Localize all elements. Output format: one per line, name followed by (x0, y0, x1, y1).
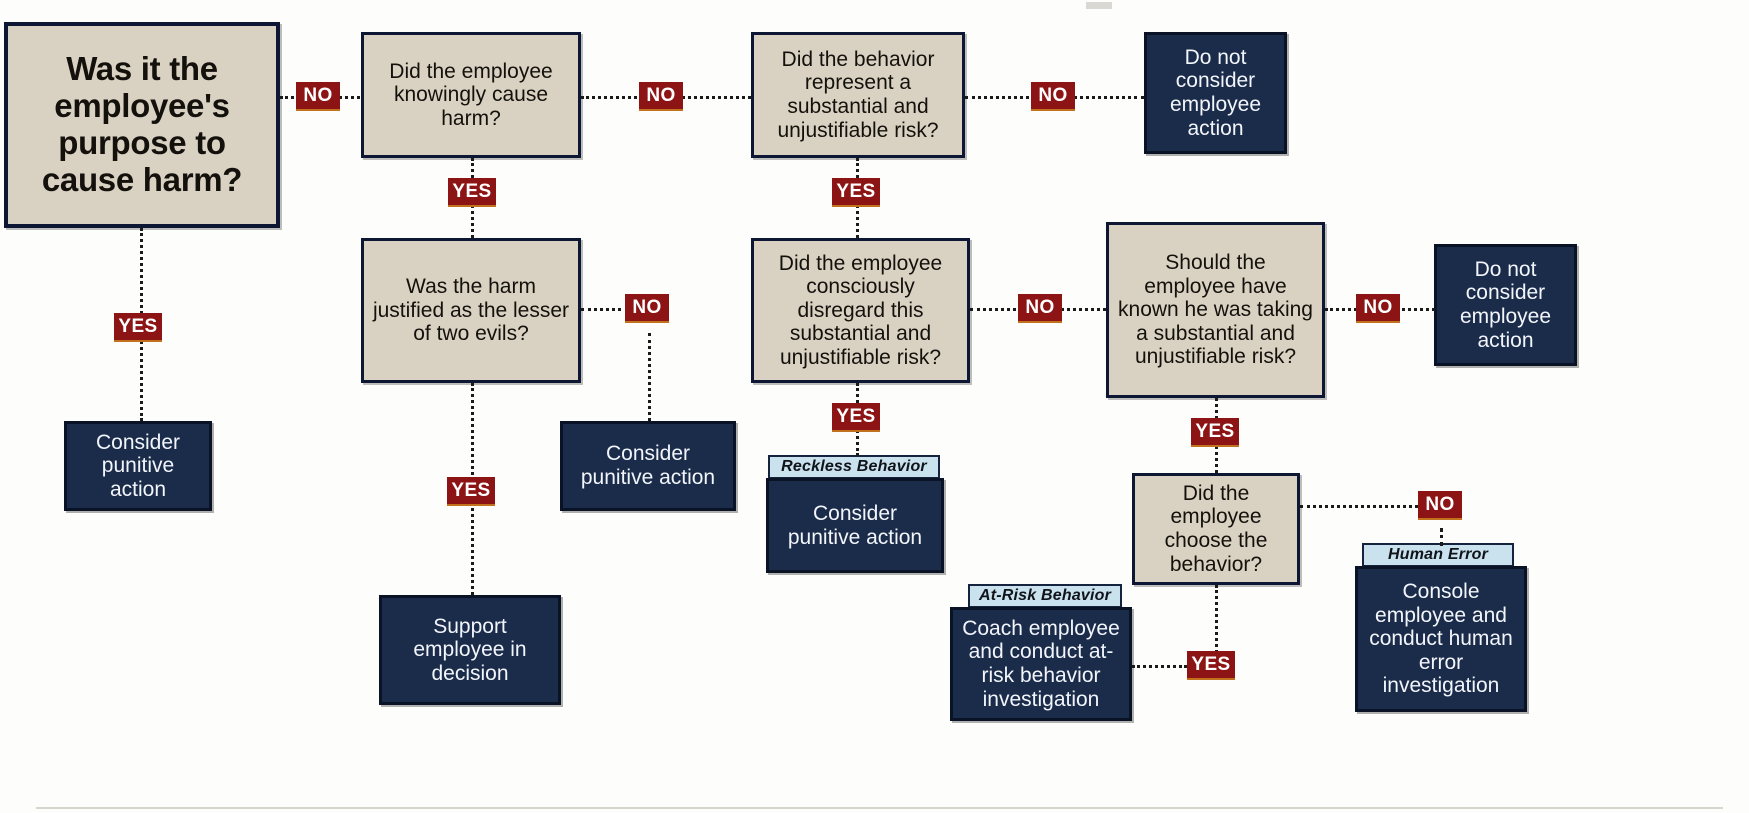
outcome-punitive-3-label: Consider punitive action (777, 502, 933, 549)
edge-label-text: NO (1363, 297, 1392, 319)
edge-label-no-purpose: NO (296, 82, 340, 111)
outcome-do-not-consider-2[interactable]: Do not consider employee action (1434, 244, 1577, 366)
edge-label-no-knowingly: NO (639, 82, 683, 111)
question-choose-label: Did the employee choose the behavior? (1143, 482, 1289, 576)
caption-human-error: Human Error (1362, 543, 1514, 567)
outcome-coach-employee[interactable]: Coach employee and conduct at-risk behav… (950, 607, 1132, 721)
question-purpose-label: Was it the employee's purpose to cause h… (16, 51, 268, 199)
outcome-console-label: Console employee and conduct human error… (1366, 580, 1516, 698)
edge-label-yes-should-known: YES (1191, 418, 1239, 447)
edge-label-yes-knowingly: YES (448, 178, 496, 207)
edge-label-yes-disregard: YES (832, 403, 880, 432)
caption-reckless-label: Reckless Behavior (781, 458, 927, 476)
caption-reckless-behavior: Reckless Behavior (768, 455, 940, 479)
outcome-punitive-2-label: Consider punitive action (571, 442, 725, 489)
edge-label-text: YES (836, 406, 875, 428)
outcome-coach-label: Coach employee and conduct at-risk behav… (961, 617, 1121, 711)
edge-label-text: NO (632, 297, 661, 319)
caption-human-error-label: Human Error (1388, 546, 1488, 564)
outcome-punitive-1-label: Consider punitive action (75, 431, 201, 502)
caption-at-risk-label: At-Risk Behavior (979, 587, 1111, 605)
flowchart-canvas: Was it the employee's purpose to cause h… (0, 0, 1749, 813)
outcome-consider-punitive-1[interactable]: Consider punitive action (64, 421, 212, 511)
edge-label-text: YES (451, 480, 490, 502)
question-employee-choose-behavior[interactable]: Did the employee choose the behavior? (1132, 473, 1300, 585)
edge-label-text: NO (646, 85, 675, 107)
question-knowingly-label: Did the employee knowingly cause harm? (372, 60, 570, 131)
scan-artifact-top (1086, 2, 1112, 9)
connector-no-to-console (1440, 528, 1443, 546)
caption-at-risk-behavior: At-Risk Behavior (968, 584, 1122, 608)
connector-yes-to-coach (1132, 665, 1187, 668)
question-consciously-disregard[interactable]: Did the employee consciously disregard t… (751, 238, 970, 383)
edge-label-no-behavior-risk: NO (1031, 82, 1075, 111)
question-lesser-of-two-evils[interactable]: Was the harm justified as the lesser of … (361, 238, 581, 383)
edge-label-yes-lesser-evils: YES (447, 477, 495, 506)
question-purpose-to-cause-harm[interactable]: Was it the employee's purpose to cause h… (4, 22, 280, 228)
question-should-have-known[interactable]: Should the employee have known he was ta… (1106, 222, 1325, 398)
connector-lesserevils-to-no (581, 308, 621, 311)
page-bottom-rule (36, 807, 1723, 809)
edge-label-yes-purpose: YES (114, 313, 162, 342)
edge-label-no-should-known: NO (1356, 294, 1400, 323)
outcome-do-not-consider-1-label: Do not consider employee action (1155, 46, 1276, 140)
edge-label-text: NO (303, 85, 332, 107)
edge-label-yes-choose: YES (1187, 651, 1235, 680)
edge-label-text: YES (452, 181, 491, 203)
edge-label-yes-behavior-risk: YES (832, 178, 880, 207)
question-should-known-label: Should the employee have known he was ta… (1117, 251, 1314, 369)
edge-label-text: NO (1038, 85, 1067, 107)
edge-label-text: YES (118, 316, 157, 338)
edge-label-text: YES (1195, 421, 1234, 443)
outcome-console-employee[interactable]: Console employee and conduct human error… (1355, 566, 1527, 712)
outcome-do-not-consider-2-label: Do not consider employee action (1445, 258, 1566, 352)
outcome-support-label: Support employee in decision (390, 615, 550, 686)
edge-label-text: NO (1025, 297, 1054, 319)
edge-label-text: NO (1425, 494, 1454, 516)
outcome-support-employee[interactable]: Support employee in decision (379, 595, 561, 705)
outcome-consider-punitive-3[interactable]: Consider punitive action (766, 478, 944, 573)
edge-label-no-lesser-evils: NO (625, 294, 669, 323)
question-lesser-evils-label: Was the harm justified as the lesser of … (372, 275, 570, 346)
edge-label-text: YES (836, 181, 875, 203)
edge-label-no-disregard: NO (1018, 294, 1062, 323)
question-knowingly-cause-harm[interactable]: Did the employee knowingly cause harm? (361, 32, 581, 158)
edge-label-no-choose: NO (1418, 491, 1462, 520)
connector-no-to-punitive2 (648, 333, 651, 421)
outcome-consider-punitive-2[interactable]: Consider punitive action (560, 421, 736, 511)
outcome-do-not-consider-1[interactable]: Do not consider employee action (1144, 32, 1287, 154)
question-behavior-risk-label: Did the behavior represent a substantial… (762, 48, 954, 142)
connector-choose-to-humanerror (1300, 505, 1418, 508)
question-disregard-label: Did the employee consciously disregard t… (762, 252, 959, 370)
question-behavior-substantial-risk[interactable]: Did the behavior represent a substantial… (751, 32, 965, 158)
edge-label-text: YES (1191, 654, 1230, 676)
